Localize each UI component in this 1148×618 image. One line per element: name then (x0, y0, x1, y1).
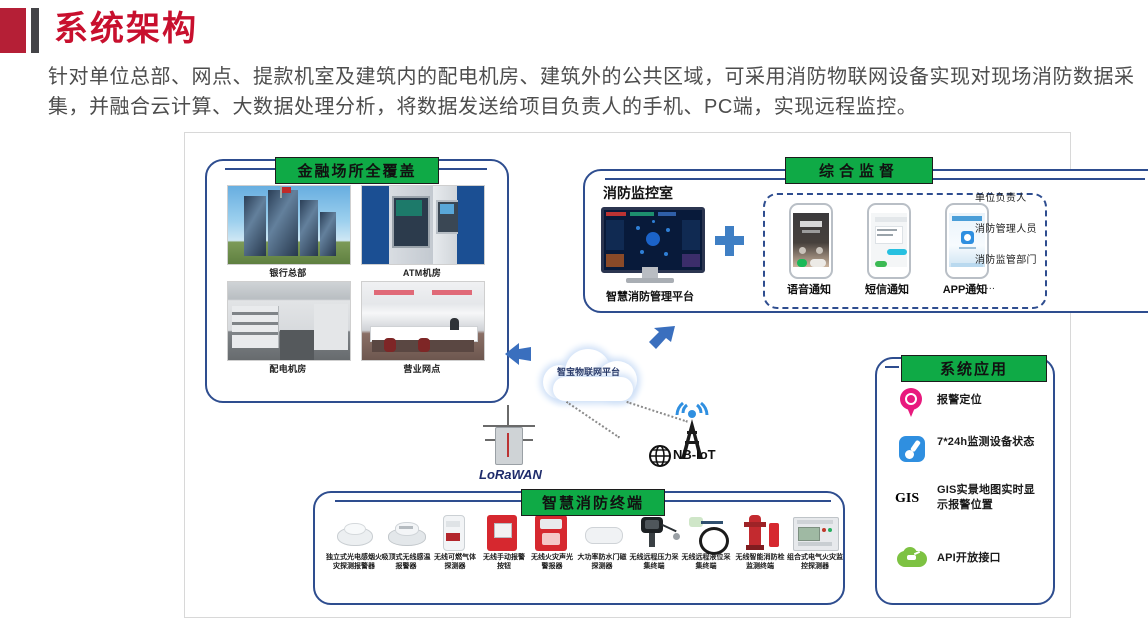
page-header: 系统架构 (0, 0, 1148, 62)
caption-sounder-beacon: 无线火灾声光警报器 (529, 553, 575, 571)
gis-text-icon: GIS (895, 491, 929, 509)
caption-bank-hq: 银行总部 (227, 266, 349, 279)
badge-coverage: 金融场所全覆盖 (275, 157, 439, 184)
caption-heat-detector: 吸顶式无线感温报警器 (379, 553, 433, 571)
phone-sms (867, 203, 911, 279)
receiver-more: …… (975, 281, 996, 292)
caption-electrical-monitor: 组合式电气火灾监控探测器 (787, 553, 843, 571)
heat-detector-icon (385, 519, 427, 549)
photo-bank-hq (227, 185, 351, 265)
badge-line-right-supervision (913, 178, 1145, 180)
caption-smoke-detector: 独立式光电感烟火灾探测报警器 (325, 553, 383, 571)
supervision-room-title: 消防监控室 (603, 183, 673, 203)
caption-sms: 短信通知 (849, 281, 925, 297)
caption-gas-detector: 无线可燃气体探测器 (431, 553, 479, 571)
thermometer-icon (899, 436, 925, 462)
smoke-detector-icon (333, 519, 375, 549)
caption-door-contact: 大功率防水门磁探测器 (577, 553, 627, 571)
sysapp-label-api: API开放接口 (937, 551, 1041, 566)
receiver-unit-head: 单位负责人 (975, 189, 1027, 204)
photo-power-room (227, 281, 351, 361)
phone-voice-call (789, 203, 833, 279)
phone-app (945, 203, 989, 279)
caption-platform: 智慧消防管理平台 (593, 288, 707, 304)
location-pin-icon (899, 388, 923, 416)
door-contact-icon (583, 523, 623, 547)
badge-system-app: 系统应用 (901, 355, 1047, 382)
badge-line-left-coverage (225, 168, 275, 170)
badge-line-right-coverage (437, 168, 487, 170)
sysapp-label-gis: GIS实景地图实时显示报警位置 (937, 483, 1045, 513)
caption-pressure-sensor: 无线远程压力采集终端 (629, 553, 679, 571)
cloud-platform-label: 智宝物联网平台 (557, 365, 620, 378)
caption-atm-room: ATM机房 (361, 266, 483, 279)
header-gray-block (31, 8, 39, 53)
lorawan-label: LoRaWAN (479, 467, 542, 482)
receiver-regulator: 消防监管部门 (975, 251, 1037, 266)
badge-line-left-sysapp (885, 366, 899, 368)
api-cloud-icon (897, 547, 927, 569)
nbiot-label: NB-IoT (673, 447, 716, 462)
caption-manual-call-point: 无线手动报警按钮 (481, 553, 527, 571)
receiver-fire-manager: 消防管理人员 (975, 220, 1037, 235)
sounder-beacon-icon (535, 515, 567, 551)
sysapp-label-alarm-location: 报警定位 (937, 393, 1041, 408)
arrow-left-icon (503, 341, 533, 367)
badge-line-left-terminals (335, 500, 521, 502)
badge-terminals: 智慧消防终端 (521, 489, 665, 516)
badge-line-right-terminals (645, 500, 831, 502)
electrical-monitor-icon (793, 517, 837, 549)
intro-paragraph: 针对单位总部、网点、提款机室及建筑内的配电机房、建筑外的公共区域，可采用消防物联… (48, 62, 1138, 122)
arrow-right-icon (647, 323, 677, 351)
pressure-sensor-icon (635, 515, 681, 551)
architecture-diagram: 金融场所全覆盖 银行总部 ATM机房 (184, 132, 1071, 618)
photo-atm-room (361, 185, 485, 265)
caption-level-sensor: 无线远程液位采集终端 (681, 553, 731, 571)
caption-branch-office: 营业网点 (361, 362, 483, 375)
caption-power-room: 配电机房 (227, 362, 349, 375)
gas-detector-icon (439, 515, 467, 551)
caption-voice-call: 语音通知 (771, 281, 847, 297)
page-title: 系统架构 (54, 7, 198, 52)
photo-branch-office (361, 281, 485, 361)
badge-line-left-supervision (605, 178, 785, 180)
badge-supervision: 综合监督 (785, 157, 933, 184)
hydrant-monitor-icon (741, 513, 783, 551)
level-sensor-icon (687, 515, 733, 551)
manual-call-point-icon (487, 515, 517, 551)
connector-cloud-lorawan (566, 401, 620, 438)
sysapp-label-monitoring: 7*24h监测设备状态 (937, 435, 1043, 450)
header-red-block (0, 8, 26, 53)
caption-hydrant-monitor: 无线智能消防栓监测终端 (733, 553, 787, 571)
